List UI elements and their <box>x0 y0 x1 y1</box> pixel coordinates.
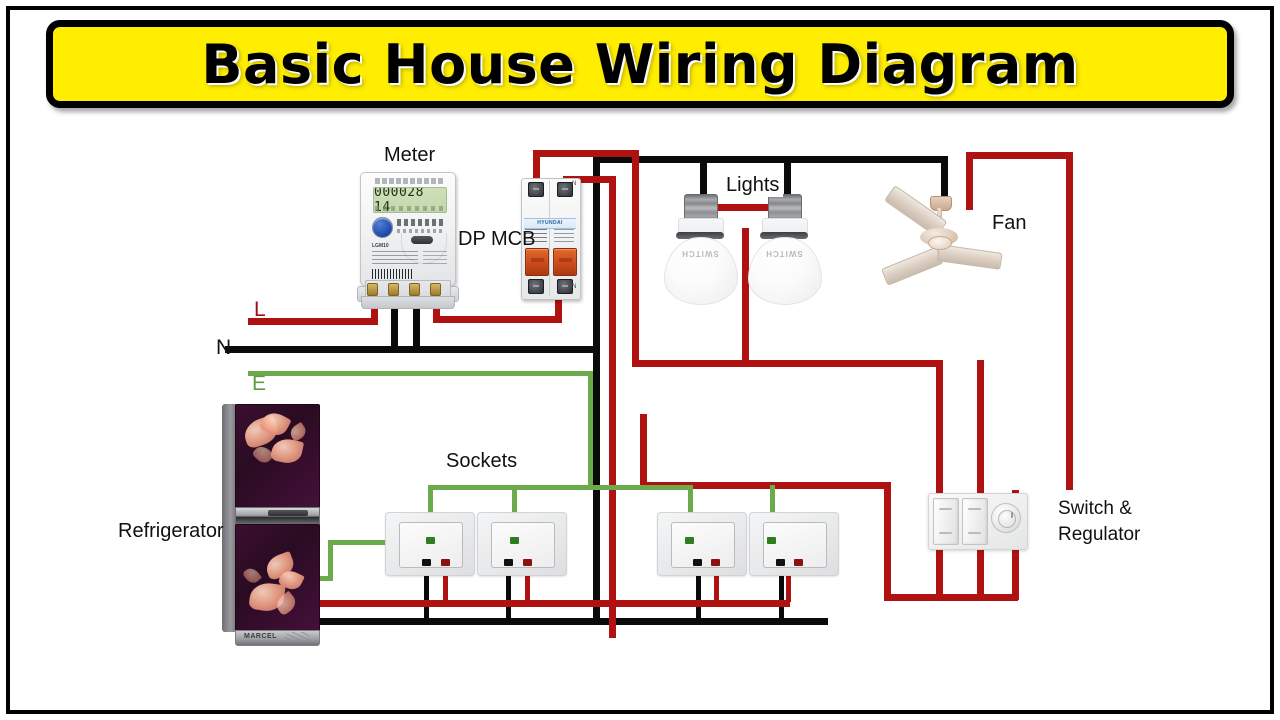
bulb-brand-label: SWITCH <box>676 249 724 258</box>
wire-live-switch2-in <box>977 360 984 494</box>
diagram-canvas: Basic House Wiring Diagram <box>0 0 1280 720</box>
switch-regulator-panel[interactable] <box>928 493 1026 548</box>
wire-live-bottom-bus <box>320 600 790 607</box>
socket-2-earth-terminal <box>510 537 519 544</box>
bulb-brand-label: SWITCH <box>760 249 808 258</box>
meter-brand-text <box>375 178 445 184</box>
meter-terminal-3 <box>409 283 420 296</box>
mcb-lever-left[interactable] <box>525 248 549 276</box>
mcb-spec-text-right <box>554 229 574 245</box>
meter-base <box>361 296 455 309</box>
rocker-switch-1[interactable] <box>933 498 959 545</box>
fridge-side-panel <box>222 404 236 632</box>
refrigerator[interactable]: MARCEL <box>222 398 318 636</box>
wire-live-mcb-top-bus <box>533 150 638 157</box>
meter-body: 000028 14 LGM10 <box>360 172 456 286</box>
fridge-handle-grip <box>268 510 308 516</box>
socket-3-live-terminal <box>711 559 720 566</box>
socket-1-face <box>399 522 463 568</box>
earth-label: E <box>252 372 266 396</box>
socket-group-right[interactable] <box>657 512 837 574</box>
wire-live-to-switch1 <box>936 360 943 494</box>
wire-live-to-sockets-bus <box>632 360 942 367</box>
fridge-brand-label: MARCEL <box>244 633 277 640</box>
meter-fineprint-left <box>372 251 418 267</box>
meter-label: Meter <box>384 144 435 167</box>
meter-terminal-2 <box>388 283 399 296</box>
socket-3[interactable] <box>657 512 747 576</box>
socket-1-earth-terminal <box>426 537 435 544</box>
socket-3-neutral-terminal <box>693 559 702 566</box>
light-bulb-1[interactable]: SWITCH <box>664 194 736 304</box>
ceiling-fan[interactable] <box>880 196 1000 284</box>
page-title: Basic House Wiring Diagram <box>201 33 1078 96</box>
fan-hub-cap <box>928 236 952 250</box>
meter-terminal-1 <box>367 283 378 296</box>
mcb-terminal-bottom-right <box>557 279 573 294</box>
fan-label: Fan <box>992 212 1026 235</box>
wire-neutral-riser <box>593 156 600 353</box>
socket-2-neutral-terminal <box>504 559 513 566</box>
regulator-indicator-mark <box>1011 512 1013 518</box>
socket-group-left[interactable] <box>385 512 565 574</box>
wire-live-fan-riser <box>1066 152 1073 490</box>
socket-1-neutral-terminal <box>422 559 431 566</box>
wire-live-incoming <box>248 318 378 325</box>
wire-live-mcb-top-right <box>632 150 639 365</box>
bulb-glass <box>748 237 822 305</box>
wire-live-mcb-n-riser <box>609 176 616 638</box>
wire-earth-riser <box>588 371 593 489</box>
title-banner: Basic House Wiring Diagram <box>46 20 1234 108</box>
sockets-label: Sockets <box>446 450 517 473</box>
meter-barcode <box>372 269 412 279</box>
rocker-switch-2[interactable] <box>962 498 988 545</box>
socket-3-earth-terminal <box>685 537 694 544</box>
meter-button[interactable] <box>372 217 393 238</box>
wire-live-switch2-out <box>977 544 984 600</box>
socket-2[interactable] <box>477 512 567 576</box>
mcb-terminal-top-right <box>557 182 573 197</box>
socket-4[interactable] <box>749 512 839 576</box>
wire-live-socket-branch-drop <box>884 482 891 596</box>
meter-lcd-subtext <box>375 206 443 211</box>
switch-regulator-label-line1: Switch & <box>1058 498 1132 520</box>
live-label: L <box>254 298 266 322</box>
socket-2-live-terminal <box>523 559 532 566</box>
socket-4-earth-terminal <box>767 537 776 544</box>
fan-regulator-dial[interactable] <box>991 503 1021 533</box>
mcb-terminal-bottom-left <box>528 279 544 294</box>
meter-cert-marks <box>397 219 445 226</box>
switch-regulator-label-line2: Regulator <box>1058 524 1140 546</box>
wire-earth-socket-bus <box>428 485 690 490</box>
mcb-terminal-top-left <box>528 182 544 197</box>
wire-live-switch1-out <box>936 544 943 600</box>
fridge-main-door[interactable] <box>235 524 320 634</box>
mcb-neutral-marking: N <box>572 181 576 187</box>
wire-earth-fridge-drop <box>328 540 333 580</box>
meter-fineprint-right <box>423 251 447 265</box>
socket-4-live-terminal <box>794 559 803 566</box>
wire-live-fan-top <box>966 152 1072 159</box>
lights-label: Lights <box>722 174 783 197</box>
fan-blade-2 <box>881 247 943 286</box>
mcb-lever-right[interactable] <box>553 248 577 276</box>
wire-live-socket-branch-riser <box>640 414 647 488</box>
neutral-label: N <box>216 336 231 360</box>
socket-1[interactable] <box>385 512 475 576</box>
bulb-screw-cap <box>684 194 718 221</box>
meter-ir-port <box>411 236 433 244</box>
wire-live-switch-bottom-bus <box>884 594 1018 601</box>
light-bulb-2[interactable]: SWITCH <box>748 194 820 304</box>
bulb-glass <box>664 237 738 305</box>
wire-live-meter-to-mcb <box>433 316 561 323</box>
mcb-neutral-marking-bottom: N <box>572 284 576 290</box>
wire-neutral-main-bus <box>225 346 600 353</box>
socket-3-face <box>671 522 735 568</box>
wire-neutral-top-bus <box>593 156 948 163</box>
wire-earth-incoming <box>248 371 593 376</box>
refrigerator-label: Refrigerator <box>118 520 224 543</box>
bulb-screw-cap <box>768 194 802 221</box>
wire-neutral-bottom-bus <box>320 618 828 625</box>
meter-model-label: LGM10 <box>372 243 389 249</box>
fridge-freezer-door[interactable] <box>235 404 320 509</box>
regulator-knob[interactable] <box>998 510 1016 528</box>
energy-meter[interactable]: 000028 14 LGM10 <box>357 168 457 308</box>
fridge-base-emblem <box>284 632 310 642</box>
meter-terminal-4 <box>430 283 441 296</box>
dp-mcb-label: DP MCB <box>458 228 535 251</box>
mcb-pole-divider <box>549 180 550 296</box>
socket-4-neutral-terminal <box>776 559 785 566</box>
socket-1-live-terminal <box>441 559 450 566</box>
